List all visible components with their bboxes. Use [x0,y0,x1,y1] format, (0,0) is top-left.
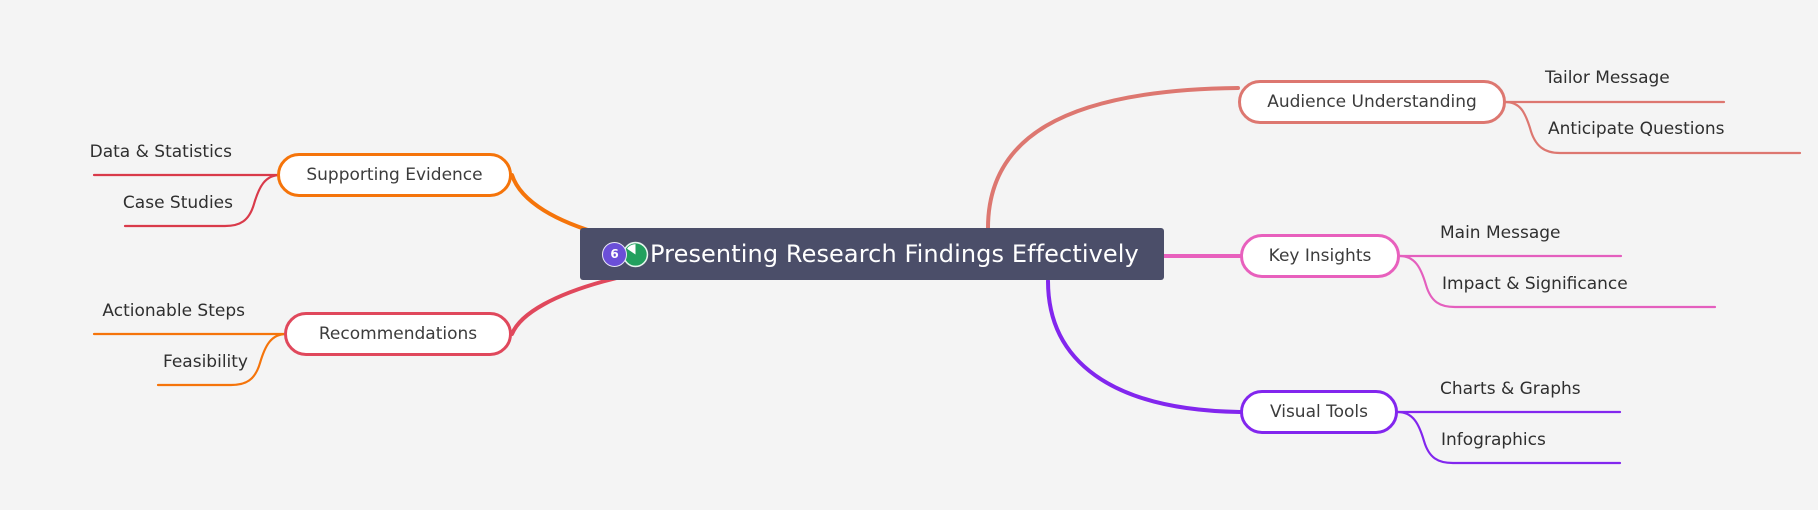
branch-label: Key Insights [1269,246,1372,266]
central-node[interactable]: 6 Presenting Research Findings Effective… [580,228,1164,280]
branch-node-audience-understanding[interactable]: Audience Understanding [1238,80,1506,124]
leaf-node-main-message[interactable]: Main Message [1440,225,1561,242]
branch-node-supporting-evidence[interactable]: Supporting Evidence [277,153,512,197]
trunk-visual-tools [1048,281,1240,412]
branch-node-recommendations[interactable]: Recommendations [284,312,512,356]
branch-label: Supporting Evidence [306,165,482,185]
branch-node-visual-tools[interactable]: Visual Tools [1240,390,1398,434]
child-count-badge: 6 [602,242,627,267]
leaf-node-data-statistics[interactable]: Data & Statistics [0,144,232,161]
leaf-node-infographics[interactable]: Infographics [1441,432,1546,449]
leaf-node-actionable-steps[interactable]: Actionable Steps [0,303,245,320]
leaf-node-feasibility[interactable]: Feasibility [0,354,248,371]
central-badges: 6 [602,241,649,268]
mindmap-canvas: 6 Presenting Research Findings Effective… [0,0,1818,510]
leaf-node-case-studies[interactable]: Case Studies [0,195,233,212]
branch-label: Visual Tools [1270,402,1368,422]
branch-node-key-insights[interactable]: Key Insights [1240,234,1400,278]
leaf-node-charts-graphs[interactable]: Charts & Graphs [1440,381,1581,398]
branch-label: Recommendations [319,324,477,344]
central-node-title: Presenting Research Findings Effectively [650,240,1139,268]
leaf-node-tailor-message[interactable]: Tailor Message [1545,70,1670,87]
leaf-node-anticipate-questions[interactable]: Anticipate Questions [1548,121,1725,138]
trunk-audience-understanding [988,88,1238,228]
branch-label: Audience Understanding [1267,92,1477,112]
leaf-node-impact-significance[interactable]: Impact & Significance [1442,276,1628,293]
